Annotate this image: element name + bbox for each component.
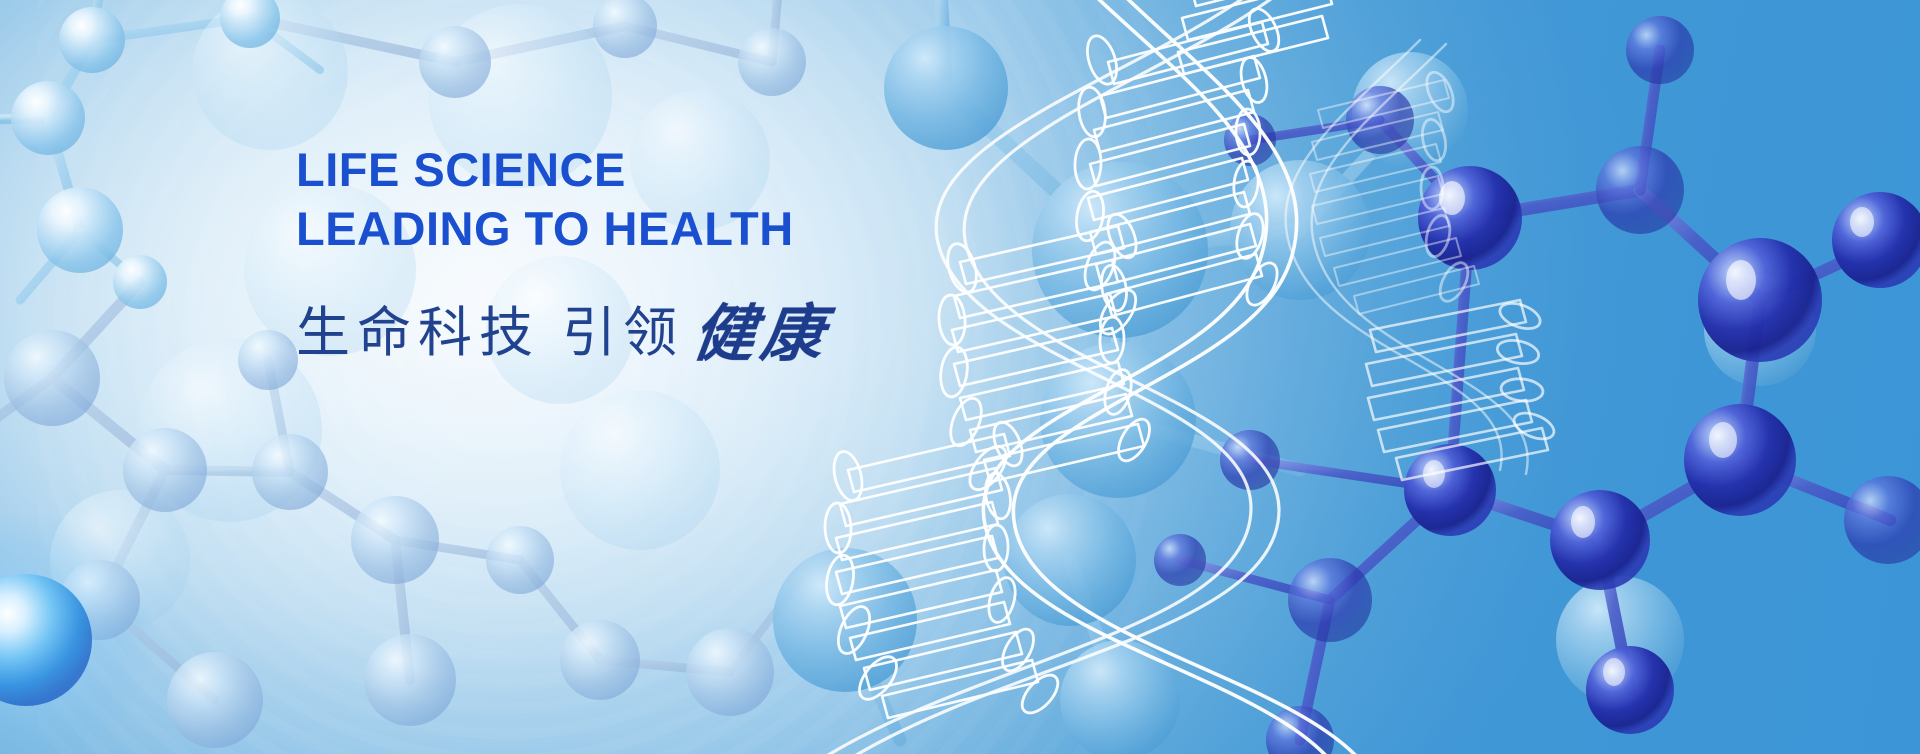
chinese-tagline-secondary: 引领 [562,288,684,367]
dna-double-helix-wireframe [0,0,1920,754]
chinese-tagline: 生命科技 引领 健康 [296,279,830,369]
life-science-banner: LIFE SCIENCE LEADING TO HEALTH 生命科技 引领 健… [0,0,1920,754]
headline-line-1: LIFE SCIENCE [296,140,830,201]
headline-text-block: LIFE SCIENCE LEADING TO HEALTH 生命科技 引领 健… [296,140,830,369]
headline-line-2: LEADING TO HEALTH [296,199,830,260]
chinese-tagline-primary: 生命科技 [296,288,540,367]
chinese-tagline-brush: 健康 [688,283,835,373]
